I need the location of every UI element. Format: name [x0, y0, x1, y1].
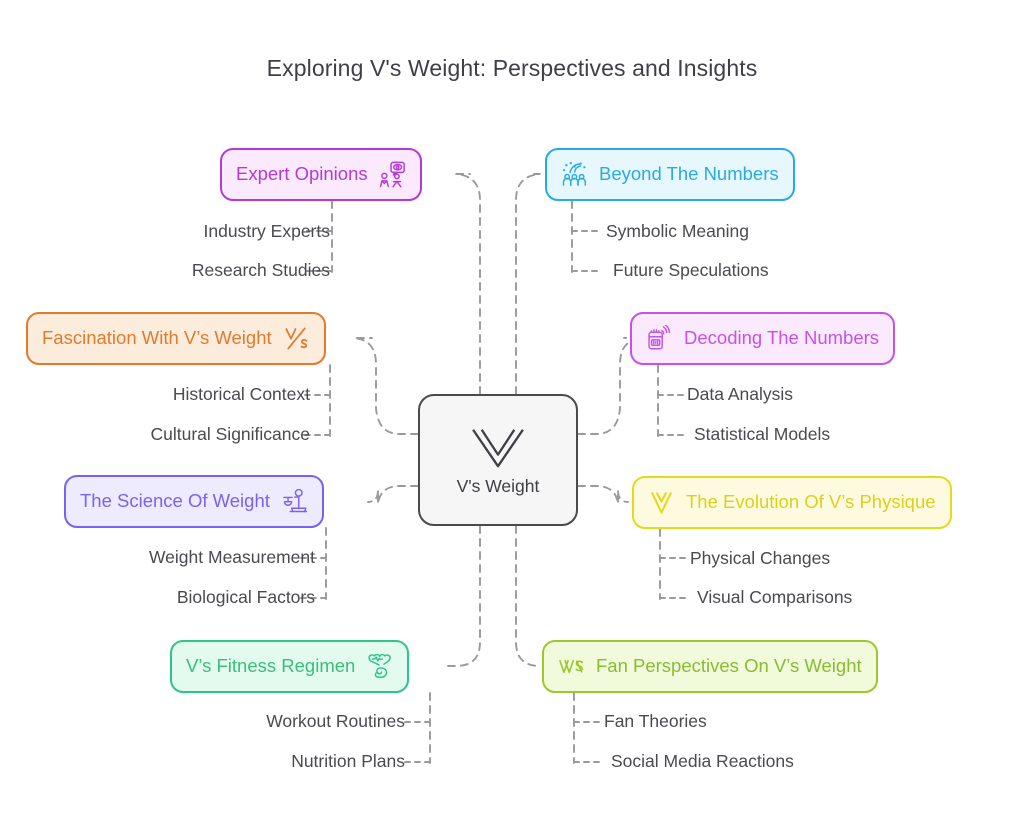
nested-chevron-v-logo-icon: [467, 424, 529, 470]
center-node-label: V's Weight: [457, 476, 540, 497]
sub-item-fascination-1: Cultural Significance: [60, 426, 310, 444]
sub-item-fan-1: Social Media Reactions: [611, 753, 794, 771]
branch-node-expert-opinions[interactable]: Expert Opinions: [220, 148, 422, 201]
sub-item-decoding-0: Data Analysis: [687, 386, 793, 404]
sub-item-evolution-1: Visual Comparisons: [697, 589, 852, 607]
sub-item-expert-opinions-1: Research Studies: [140, 262, 330, 280]
branch-label: Fascination With V’s Weight: [42, 329, 272, 348]
branch-node-the-science-of-weight[interactable]: The Science Of Weight: [64, 475, 324, 528]
versus-vs-fraction-icon: [283, 325, 310, 352]
sub-item-beyond-the-numbers-1: Future Speculations: [613, 262, 769, 280]
sub-item-fitness-0: Workout Routines: [150, 713, 405, 731]
sub-item-fascination-0: Historical Context: [60, 386, 310, 404]
branch-label: V’s Fitness Regimen: [186, 657, 355, 676]
sub-item-fitness-1: Nutrition Plans: [150, 753, 405, 771]
sub-item-science-1: Biological Factors: [70, 589, 315, 607]
people-with-eye-speech-bubble-icon: [379, 161, 406, 188]
sub-item-expert-opinions-0: Industry Experts: [140, 223, 330, 241]
branch-node-beyond-the-numbers[interactable]: Beyond The Numbers: [545, 148, 795, 201]
balance-scale-icon: [281, 488, 308, 515]
sub-item-beyond-the-numbers-0: Symbolic Meaning: [606, 223, 749, 241]
branch-node-the-evolution-of-vs-physique[interactable]: The Evolution Of V’s Physique: [632, 476, 952, 529]
center-node[interactable]: V's Weight: [418, 394, 578, 526]
branch-label: The Science Of Weight: [80, 492, 270, 511]
branch-label: Decoding The Numbers: [684, 329, 879, 348]
page-title: Exploring V's Weight: Perspectives and I…: [0, 55, 1024, 82]
smart-scale-wifi-icon: [646, 325, 673, 352]
vs-double-letter-icon: [558, 653, 585, 680]
v-chevron-outline-icon: [648, 489, 675, 516]
sub-item-fan-0: Fan Theories: [604, 713, 707, 731]
branch-node-fan-perspectives-on-vs-weight[interactable]: Fan Perspectives On V’s Weight: [542, 640, 878, 693]
branch-label: Fan Perspectives On V’s Weight: [596, 657, 862, 676]
branch-node-fascination-with-vs-weight[interactable]: Fascination With V’s Weight: [26, 312, 326, 365]
branch-label: Beyond The Numbers: [599, 165, 779, 184]
branch-node-vs-fitness-regimen[interactable]: V’s Fitness Regimen: [170, 640, 409, 693]
sub-item-evolution-0: Physical Changes: [690, 550, 830, 568]
branch-label: Expert Opinions: [236, 165, 368, 184]
sub-item-decoding-1: Statistical Models: [694, 426, 830, 444]
sub-item-science-0: Weight Measurement: [70, 549, 315, 567]
crowd-network-icon: [561, 161, 588, 188]
heart-pulse-muscle-arm-icon: [366, 653, 393, 680]
branch-label: The Evolution Of V’s Physique: [686, 493, 936, 512]
mindmap-canvas: Exploring V's Weight: Perspectives and I…: [0, 0, 1024, 827]
branch-node-decoding-the-numbers[interactable]: Decoding The Numbers: [630, 312, 895, 365]
